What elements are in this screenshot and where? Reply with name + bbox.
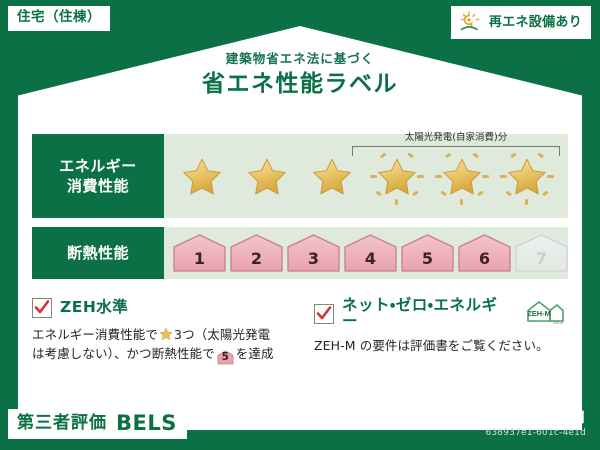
- criterion-net-zero: ネット・ゼロ・エネルギー ZEH-M ZEH-M ZEH-M の要件は評価書をご…: [300, 298, 568, 365]
- zeh-checkbox: [32, 298, 52, 318]
- star-icon: [242, 154, 292, 202]
- check-icon: [34, 299, 50, 316]
- bels-label: BELS: [116, 413, 177, 434]
- insulation-level-2: 2: [229, 233, 284, 273]
- net-zero-title: ネット・ゼロ・エネルギー: [342, 298, 512, 329]
- energy-key-line2: 消費性能: [67, 176, 129, 196]
- inline-star-icon: [159, 327, 173, 341]
- zeh-body-stars: 3つ（太陽光発電: [174, 327, 270, 342]
- check-icon: [316, 305, 332, 322]
- insulation-level-3: 3: [286, 233, 341, 273]
- third-party-label: 第三者評価: [17, 415, 107, 432]
- energy-star-rating: [164, 148, 559, 208]
- insulation-performance-value: 1234567: [164, 227, 569, 279]
- star-icon: [502, 154, 552, 202]
- insulation-key-line1: 断熱性能: [67, 243, 129, 263]
- insulation-level-label: 1: [194, 249, 205, 268]
- star-solar: [430, 148, 494, 208]
- solar-contribution-note: 太陽光発電(自家消費)分: [350, 133, 562, 143]
- insulation-performance-key: 断熱性能: [32, 227, 164, 279]
- star-base: [235, 148, 299, 208]
- zeh-title: ZEH水準: [60, 300, 128, 316]
- zeh-body-part1: エネルギー消費性能で: [32, 327, 158, 342]
- insulation-level-1: 1: [172, 233, 227, 273]
- insulation-level-label: 5: [422, 249, 433, 268]
- insulation-level-4: 4: [343, 233, 398, 273]
- bels-certification-block: 第三者評価 BELS: [8, 409, 187, 439]
- title-main: 省エネ性能ラベル: [0, 72, 600, 97]
- star-base: [300, 148, 364, 208]
- dwelling-type-tag: 住宅（住棟）: [8, 6, 110, 31]
- renewable-badge-label: 再エネ設備あり: [489, 16, 582, 29]
- star-icon: [177, 154, 227, 202]
- energy-key-line1: エネルギー: [59, 156, 137, 176]
- title-subtitle: 建築物省エネ法に基づく: [0, 52, 600, 66]
- zeh-body-part3: を達成: [236, 346, 274, 361]
- star-solar: [495, 148, 559, 208]
- inline-level-badge: 5: [217, 350, 234, 365]
- insulation-level-label: 4: [365, 249, 376, 268]
- net-zero-description: ZEH-M の要件は評価書をご覧ください。: [314, 336, 568, 355]
- document-id: 638937e1-601c-4e1d: [415, 429, 586, 438]
- insulation-level-scale: 1234567: [164, 233, 569, 273]
- zeh-m-logo-icon: ZEH-M ZEH-M: [520, 299, 568, 329]
- star-solar: [365, 148, 429, 208]
- zeh-description: エネルギー消費性能で3つ（太陽光発電は考慮しない）、かつ断熱性能で5を達成: [32, 325, 300, 365]
- energy-performance-row: エネルギー 消費性能 太陽光発電(自家消費)分: [32, 134, 568, 218]
- star-icon: [307, 154, 357, 202]
- evaluation-info: 評価日 2024年11月25日 638937e1-601c-4e1d: [415, 411, 586, 438]
- insulation-level-label: 2: [251, 249, 262, 268]
- evaluation-date: 評価日 2024年11月25日: [415, 411, 586, 426]
- energy-performance-label: 住宅（住棟） 再エネ設備あり 建築物省エネ法に基づく 省エネ性能ラベル: [0, 0, 600, 450]
- sun-renewable-icon: [458, 10, 484, 34]
- star-icon: [437, 154, 487, 202]
- svg-text:ZEH-M: ZEH-M: [553, 321, 563, 325]
- insulation-level-6: 6: [457, 233, 512, 273]
- renewable-energy-badge: 再エネ設備あり: [451, 6, 591, 39]
- criterion-zeh: ZEH水準 エネルギー消費性能で3つ（太陽光発電は考慮しない）、かつ断熱性能で5…: [32, 298, 300, 365]
- energy-performance-value: 太陽光発電(自家消費)分: [164, 134, 568, 218]
- insulation-performance-row: 断熱性能 1234567: [32, 227, 568, 279]
- criteria-section: ZEH水準 エネルギー消費性能で3つ（太陽光発電は考慮しない）、かつ断熱性能で5…: [32, 298, 568, 365]
- zeh-heading: ZEH水準: [32, 298, 300, 318]
- insulation-level-7: 7: [514, 233, 569, 273]
- inline-level-value: 5: [222, 351, 229, 363]
- energy-performance-key: エネルギー 消費性能: [32, 134, 164, 218]
- bels-number: 0275766-02: [200, 417, 275, 431]
- zeh-body-part2: は考慮しない）、かつ断熱性能で: [32, 346, 215, 361]
- net-zero-heading: ネット・ゼロ・エネルギー ZEH-M ZEH-M: [314, 298, 568, 329]
- net-zero-checkbox: [314, 304, 334, 324]
- insulation-level-label: 6: [479, 249, 490, 268]
- performance-panel: エネルギー 消費性能 太陽光発電(自家消費)分 断熱性能 1234567: [32, 134, 568, 279]
- insulation-level-5: 5: [400, 233, 455, 273]
- label-title-block: 建築物省エネ法に基づく 省エネ性能ラベル: [0, 52, 600, 97]
- insulation-level-label: 3: [308, 249, 319, 268]
- svg-text:ZEH-M: ZEH-M: [527, 309, 550, 318]
- star-base: [170, 148, 234, 208]
- star-icon: [372, 154, 422, 202]
- insulation-level-label: 7: [536, 249, 547, 268]
